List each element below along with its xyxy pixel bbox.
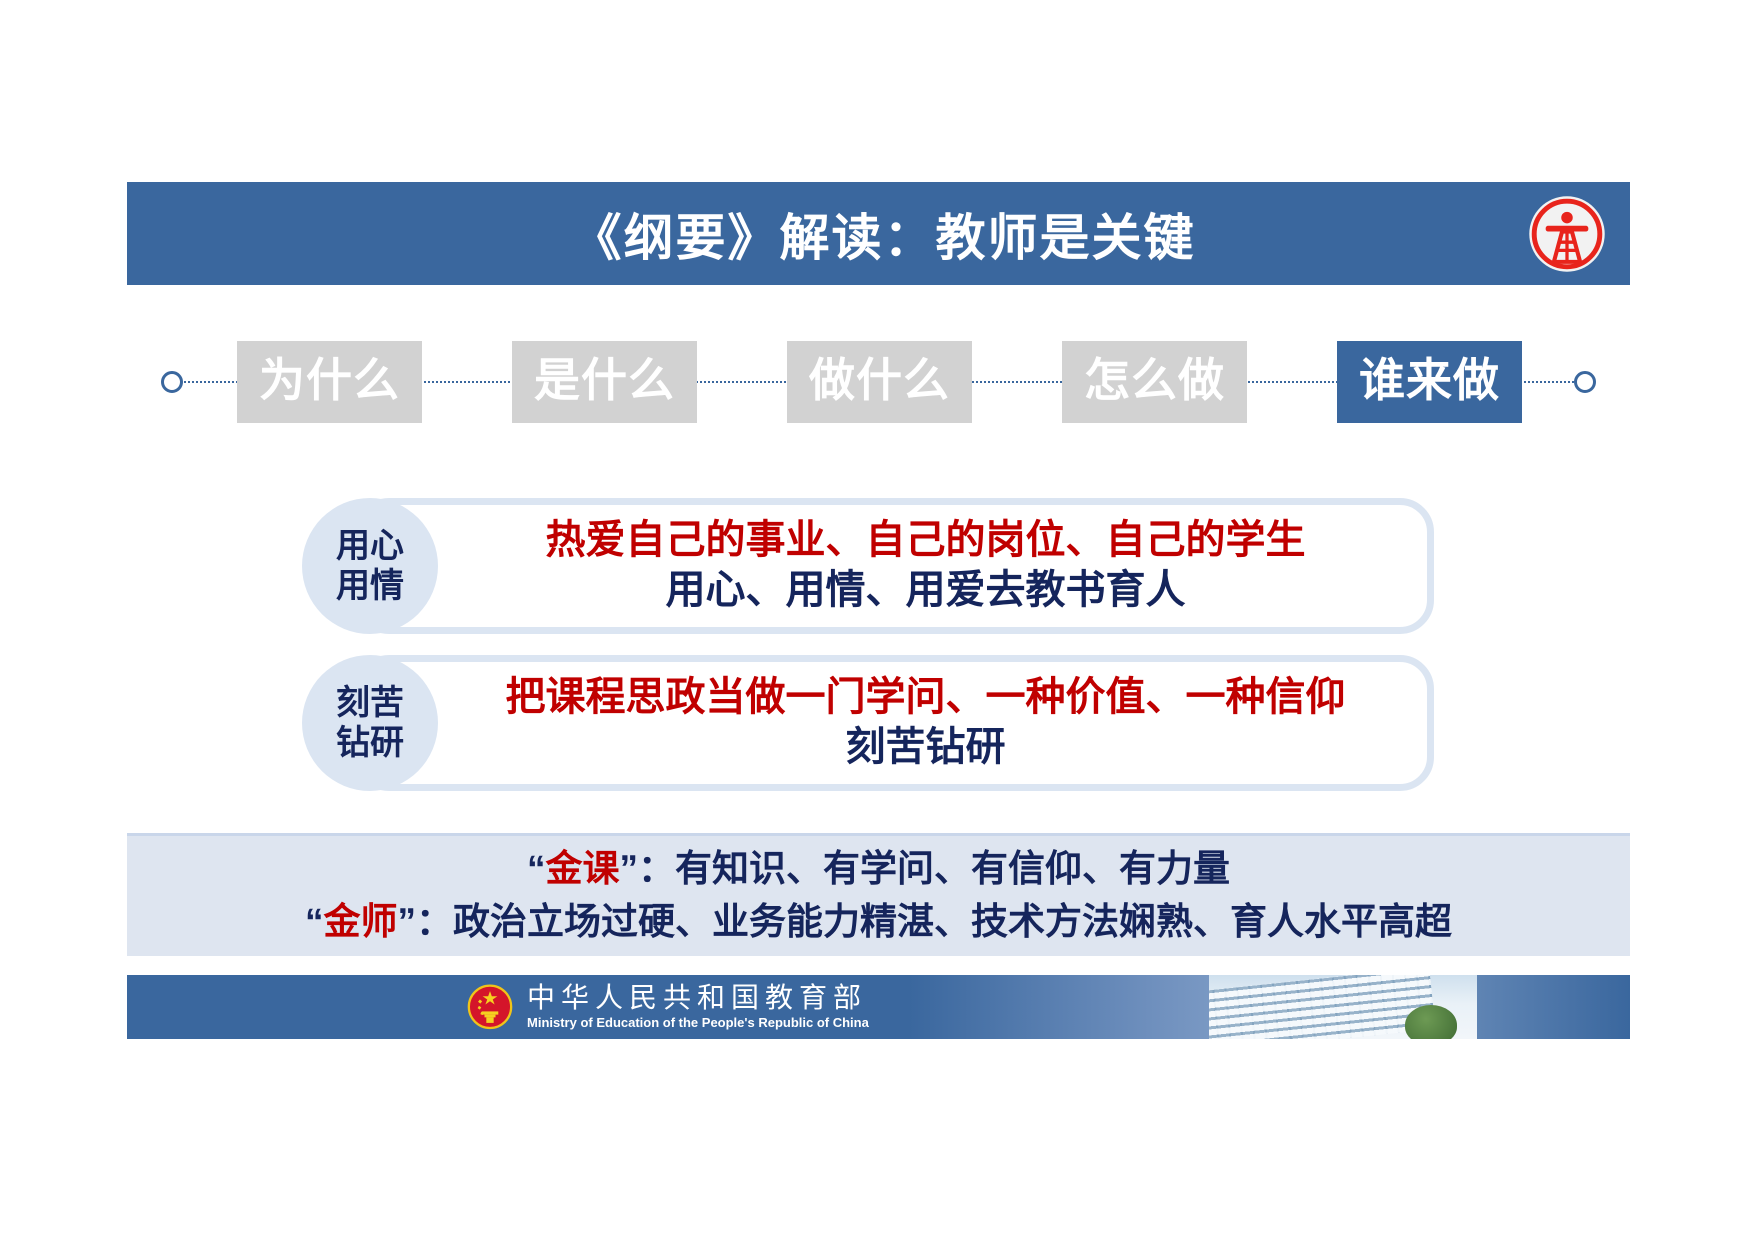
summary-line-2-keyword: 金师 xyxy=(324,901,398,942)
card-1-line-1: 热爱自己的事业、自己的岗位、自己的学生 xyxy=(546,516,1306,566)
card-2-line-2: 刻苦钻研 xyxy=(846,723,1006,773)
summary-line-1-quote-close: ” xyxy=(620,848,639,889)
summary-panel: “金课”：有知识、有学问、有信仰、有力量 “金师”：政治立场过硬、业务能力精湛、… xyxy=(127,833,1630,956)
institution-logo-icon xyxy=(1526,193,1608,275)
page-title: 《纲要》解读：教师是关键 xyxy=(572,198,1196,270)
card-2-badge: 刻苦 钻研 xyxy=(302,655,438,791)
step-end-dot-icon xyxy=(1574,371,1596,393)
card-2-line-1: 把课程思政当做一门学问、一种价值、一种信仰 xyxy=(506,673,1346,723)
building-facade xyxy=(1209,975,1436,1039)
summary-line-1-quote-open: “ xyxy=(527,848,546,889)
card-1-badge: 用心 用情 xyxy=(302,498,438,634)
ministry-building-photo xyxy=(1209,975,1477,1039)
slide-canvas: 《纲要》解读：教师是关键 为什么 是什么 做什么 怎么做 谁来做 xyxy=(0,0,1755,1241)
tree-icon xyxy=(1405,1005,1457,1039)
summary-line-2-text: ：政治立场过硬、业务能力精湛、技术方法娴熟、育人水平高超 xyxy=(416,901,1452,942)
summary-line-1-text: ：有知识、有学问、有信仰、有力量 xyxy=(638,848,1230,889)
header-bar: 《纲要》解读：教师是关键 xyxy=(127,182,1630,285)
step-tab-what[interactable]: 是什么 xyxy=(512,341,697,423)
footer-brand: 中华人民共和国教育部 Ministry of Education of the … xyxy=(467,984,869,1030)
step-tab-do-what[interactable]: 做什么 xyxy=(787,341,972,423)
step-tab-why[interactable]: 为什么 xyxy=(237,341,422,423)
summary-line-1-keyword: 金课 xyxy=(546,848,620,889)
content-card-2: 把课程思政当做一门学问、一种价值、一种信仰 刻苦钻研 xyxy=(355,655,1434,791)
card-2-badge-line-2: 钻研 xyxy=(336,723,404,763)
step-start-dot-icon xyxy=(161,371,183,393)
footer-brand-cn: 中华人民共和国教育部 xyxy=(527,984,869,1015)
step-tab-how[interactable]: 怎么做 xyxy=(1062,341,1247,423)
step-tab-who[interactable]: 谁来做 xyxy=(1337,341,1522,423)
summary-line-2: “金师”：政治立场过硬、业务能力精湛、技术方法娴熟、育人水平高超 xyxy=(305,896,1452,949)
card-1-line-2: 用心、用情、用爱去教书育人 xyxy=(666,566,1186,616)
summary-line-2-quote-close: ” xyxy=(398,901,417,942)
card-1-badge-line-2: 用情 xyxy=(336,566,404,606)
card-2-badge-line-1: 刻苦 xyxy=(336,683,404,723)
footer-brand-en: Ministry of Education of the People's Re… xyxy=(527,1015,869,1031)
summary-line-1: “金课”：有知识、有学问、有信仰、有力量 xyxy=(527,843,1230,896)
national-emblem-icon xyxy=(467,984,513,1030)
step-navigation: 为什么 是什么 做什么 怎么做 谁来做 xyxy=(127,328,1630,436)
footer-bar: 中华人民共和国教育部 Ministry of Education of the … xyxy=(127,975,1630,1039)
content-card-1: 热爱自己的事业、自己的岗位、自己的学生 用心、用情、用爱去教书育人 xyxy=(355,498,1434,634)
card-1-badge-line-1: 用心 xyxy=(336,526,404,566)
summary-line-2-quote-open: “ xyxy=(305,901,324,942)
